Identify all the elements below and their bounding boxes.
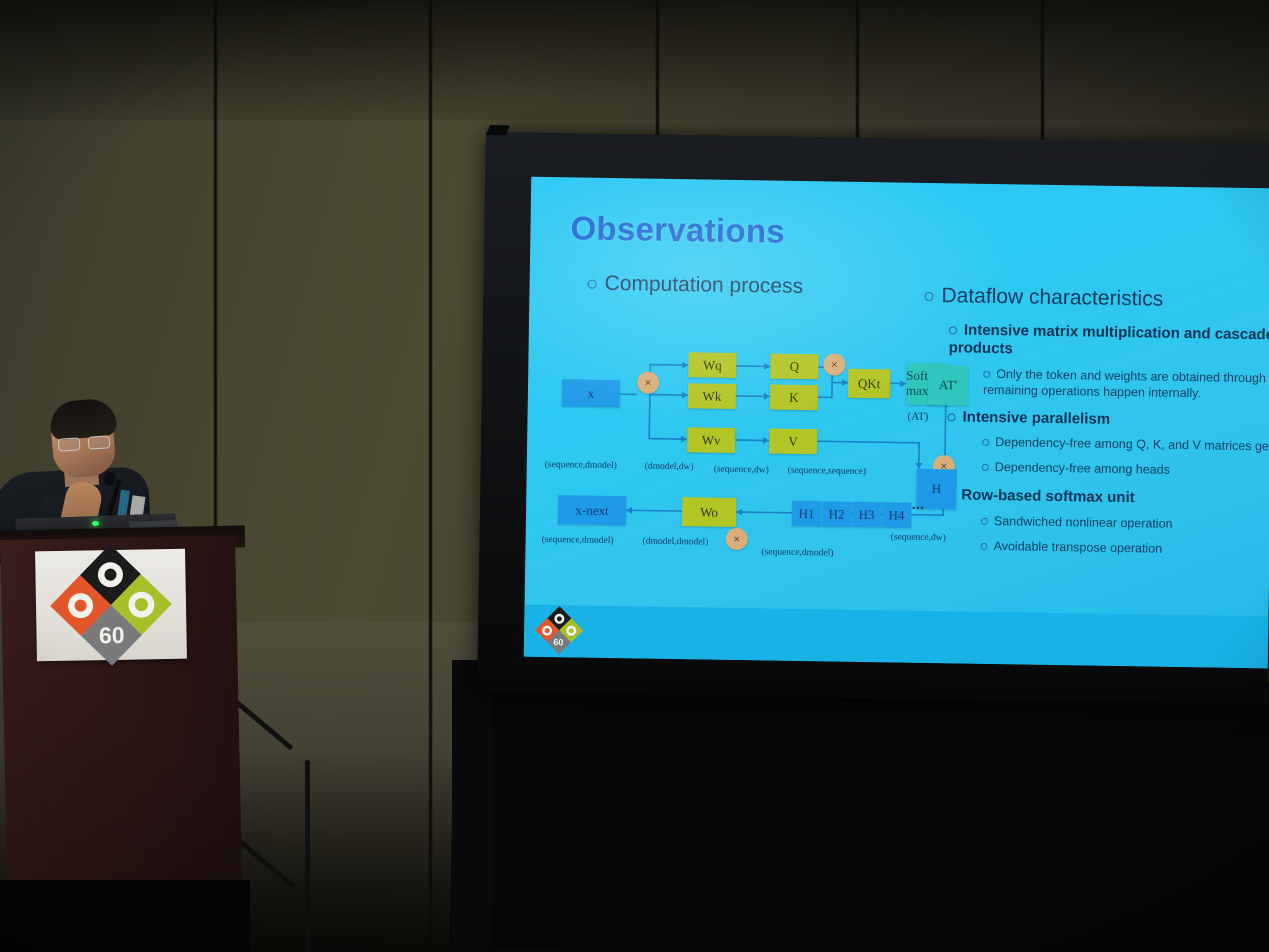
right-column-heading: Dataflow characteristics bbox=[924, 284, 1163, 312]
projection-screen: Observations Computation process Dataflo… bbox=[477, 132, 1269, 704]
wall-seam bbox=[1040, 0, 1045, 140]
bullet-ring-icon bbox=[980, 543, 987, 550]
dim-label: (sequence,dw) bbox=[891, 532, 946, 543]
bullet-ring-icon bbox=[982, 464, 989, 471]
node-v: V bbox=[769, 428, 817, 454]
dim-label: (dmodel,dmodel) bbox=[643, 537, 709, 548]
left-column-heading: Computation process bbox=[587, 272, 803, 299]
bullet-intensive-parallelism: Intensive parallelism bbox=[947, 408, 1110, 428]
presentation-slide: Observations Computation process Dataflo… bbox=[524, 177, 1269, 669]
subbullet-avoidable-transpose: Avoidable transpose operation bbox=[980, 539, 1162, 556]
dim-label: (sequence,sequence) bbox=[788, 466, 866, 477]
node-x-next: x-next bbox=[558, 495, 626, 525]
node-wo: Wo bbox=[682, 497, 736, 527]
screen-mount-tab bbox=[486, 125, 510, 135]
status-led-icon bbox=[92, 521, 99, 526]
bullet-intensive-matmul: Intensive matrix multiplication and casc… bbox=[949, 321, 1269, 362]
node-wq: Wq bbox=[688, 352, 736, 378]
node-at-prime: AT' bbox=[928, 365, 969, 406]
dim-label: (dmodel,dw) bbox=[645, 462, 694, 473]
slide-title: Observations bbox=[570, 209, 785, 250]
subbullet-sandwiched-nonlinear: Sandwiched nonlinear operation bbox=[981, 514, 1173, 531]
podium-base-shadow bbox=[0, 880, 250, 952]
node-k: K bbox=[770, 384, 818, 410]
subbullet-token-weights: Only the token and weights are obtained … bbox=[983, 366, 1269, 403]
subbullet-depfree-heads: Dependency-free among heads bbox=[982, 460, 1170, 477]
dim-label: (sequence,dw) bbox=[714, 465, 769, 476]
bullet-ring-icon bbox=[588, 280, 597, 289]
node-wv: Wv bbox=[687, 427, 735, 453]
wall-seam bbox=[655, 0, 660, 150]
podium-logo-sign: 60 bbox=[35, 549, 187, 662]
attention-dataflow-diagram: x × Wq Wk Wv Q K V × QKt Soft max AT' (A… bbox=[539, 345, 963, 582]
logo-60-text: 60 bbox=[99, 622, 125, 649]
microphone-head bbox=[104, 472, 116, 486]
node-h4: H4 bbox=[882, 502, 911, 527]
node-h1: H1 bbox=[792, 501, 821, 526]
node-wk: Wk bbox=[688, 383, 736, 409]
ellipsis-label: ••• bbox=[912, 503, 925, 513]
node-q: Q bbox=[770, 353, 818, 379]
wall-seam bbox=[855, 0, 860, 150]
bullet-ring-icon bbox=[924, 292, 933, 301]
node-h2: H2 bbox=[822, 501, 851, 526]
node-qkt: QKt bbox=[848, 369, 890, 399]
at-label: (AT) bbox=[907, 411, 928, 423]
node-x: x bbox=[562, 379, 620, 407]
dim-label: (sequence,dmodel) bbox=[761, 547, 833, 558]
stage-dark-edge bbox=[452, 660, 492, 952]
conference-presentation-photo: Observations Computation process Dataflo… bbox=[0, 0, 1269, 952]
dac-60-logo-icon: 60 bbox=[542, 613, 577, 648]
speaker-glasses bbox=[58, 435, 111, 450]
logo-60-text: 60 bbox=[554, 637, 564, 647]
node-h3: H3 bbox=[852, 502, 881, 527]
bullet-ring-icon bbox=[983, 371, 990, 378]
subbullet-depfree-qkv: Dependency-free among Q, K, and V matric… bbox=[982, 435, 1269, 454]
bullet-ring-icon bbox=[949, 326, 957, 334]
bullet-ring-icon bbox=[981, 518, 988, 525]
stage-dark-area bbox=[450, 669, 1269, 952]
bullet-row-softmax: Row-based softmax unit bbox=[946, 486, 1135, 506]
bullet-ring-icon bbox=[982, 439, 989, 446]
dim-label: (sequence,dmodel) bbox=[545, 460, 617, 471]
dim-label: (sequence,dmodel) bbox=[542, 535, 614, 546]
wall-upper-shadow bbox=[0, 0, 1269, 120]
handrail-post bbox=[305, 760, 310, 952]
